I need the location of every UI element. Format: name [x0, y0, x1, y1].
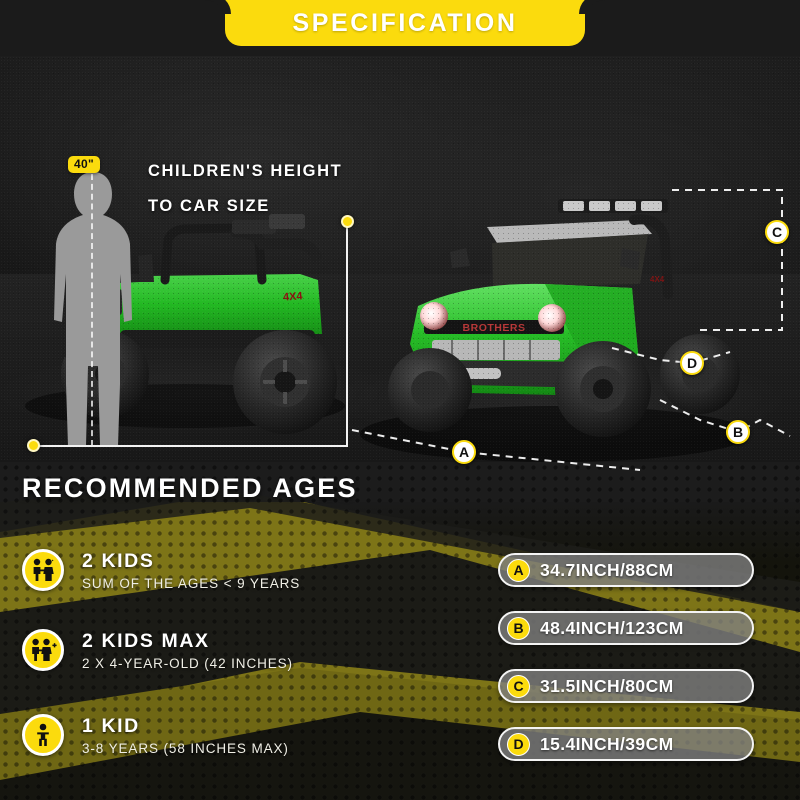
pill-letter: D	[507, 733, 530, 756]
side-measure-vertical	[346, 221, 348, 447]
ages-section-title: RECOMMENDED AGES	[22, 473, 358, 504]
dimension-pill-b: B 48.4INCH/123CM	[498, 611, 754, 645]
callout-marker-d[interactable]: D	[680, 351, 704, 375]
dimension-pill-d: D 15.4INCH/39CM	[498, 727, 754, 761]
two-kids-icon	[22, 549, 64, 591]
callout-marker-a[interactable]: A	[452, 440, 476, 464]
pill-letter: A	[507, 559, 530, 582]
age-subtext: SUM OF THE AGES < 9 YEARS	[82, 576, 300, 591]
age-subtext: 3-8 YEARS (58 INCHES MAX)	[82, 741, 289, 756]
vehicle-front-view: BROTHERS 4X4	[360, 199, 750, 462]
caption-line-1: CHILDREN'S HEIGHT	[148, 162, 342, 181]
pill-value: 31.5INCH/80CM	[540, 676, 674, 697]
measure-dot-top-right	[341, 215, 354, 228]
age-row-two-kids-max: 2 KIDS MAX 2 X 4-YEAR-OLD (42 INCHES)	[22, 629, 293, 671]
pill-value: 34.7INCH/88CM	[540, 560, 674, 581]
age-row-two-kids: 2 KIDS SUM OF THE AGES < 9 YEARS	[22, 549, 300, 591]
caption-line-2: TO CAR SIZE	[148, 197, 342, 216]
age-heading: 1 KID	[82, 715, 289, 738]
pill-letter: B	[507, 617, 530, 640]
age-subtext: 2 X 4-YEAR-OLD (42 INCHES)	[82, 656, 293, 671]
height-badge: 40"	[68, 156, 100, 173]
vehicle-photo-panel: 4X4	[0, 44, 800, 472]
svg-text:4X4: 4X4	[283, 290, 304, 303]
svg-text:BROTHERS: BROTHERS	[463, 322, 526, 334]
measure-dot-bottom-left	[27, 439, 40, 452]
pill-value: 15.4INCH/39CM	[540, 734, 674, 755]
side-measure-horizontal	[33, 445, 348, 447]
svg-text:4X4: 4X4	[650, 275, 665, 284]
dimension-pill-c: C 31.5INCH/80CM	[498, 669, 754, 703]
dimension-pill-a: A 34.7INCH/88CM	[498, 553, 754, 587]
specification-infographic: SPECIFICATION	[0, 0, 800, 800]
header-bar: SPECIFICATION	[0, 0, 800, 56]
one-kid-icon	[22, 714, 64, 756]
header-banner: SPECIFICATION	[225, 0, 585, 46]
hero-caption: CHILDREN'S HEIGHT TO CAR SIZE	[148, 162, 342, 232]
age-heading: 2 KIDS	[82, 550, 300, 573]
child-silhouette	[48, 170, 138, 448]
callout-marker-b[interactable]: B	[726, 420, 750, 444]
age-heading: 2 KIDS MAX	[82, 630, 293, 653]
height-dashed-line	[91, 174, 93, 446]
page-title: SPECIFICATION	[292, 9, 517, 38]
age-row-one-kid: 1 KID 3-8 YEARS (58 INCHES MAX)	[22, 714, 289, 756]
pill-value: 48.4INCH/123CM	[540, 618, 684, 639]
pill-letter: C	[507, 675, 530, 698]
callout-marker-c[interactable]: C	[765, 220, 789, 244]
two-kids-plus-icon	[22, 629, 64, 671]
